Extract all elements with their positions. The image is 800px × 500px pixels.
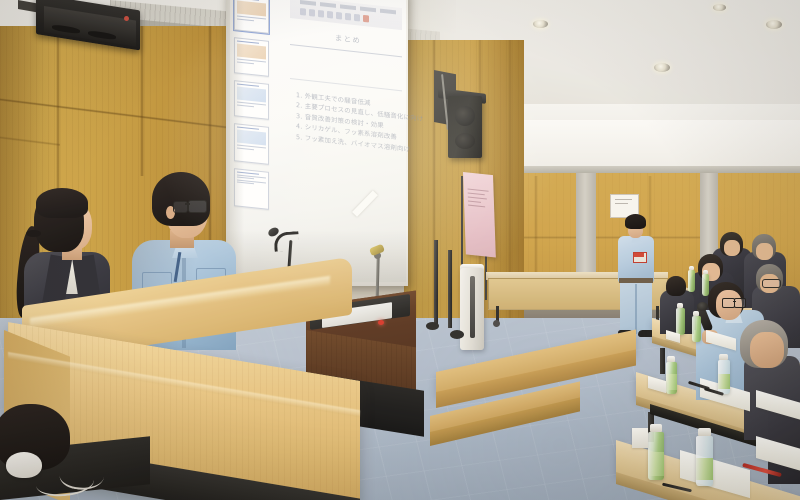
glasses-bridge: [185, 203, 190, 205]
ribbon-icon[interactable]: [336, 12, 342, 20]
ribbon-icon[interactable]: [309, 9, 315, 17]
ribbon-icon[interactable]: [345, 13, 351, 21]
bottle-label: [648, 452, 664, 476]
audience-glasses-icon: [762, 279, 781, 288]
staff-badge-stripe: [634, 253, 644, 257]
glasses-bridge: [733, 301, 736, 302]
bottle-cap: [693, 311, 699, 316]
equipment-pole: [434, 240, 438, 326]
equipment-base-caster: [450, 330, 464, 339]
ribbon-icon[interactable]: [327, 11, 333, 19]
downlight-icon: [766, 20, 782, 29]
bottle-cap: [677, 303, 683, 308]
ribbon-icon[interactable]: [318, 10, 324, 18]
microphone-head-icon: [697, 302, 708, 311]
conference-room-scene: まとめ 1. 外観工夫での騒音低減 2. 主要プロセスの見直し、低騒音化に向け …: [0, 0, 800, 500]
presenter-man-hair: [152, 172, 210, 226]
ribbon-tab[interactable]: [360, 7, 376, 13]
tea-bottle: [702, 274, 709, 296]
audience-head: [666, 276, 686, 296]
pink-poster-sign: [463, 172, 496, 258]
ribbon-tab[interactable]: [320, 2, 336, 8]
console-status-led-icon: [378, 320, 384, 325]
audience-face: [724, 240, 740, 256]
tea-bottle: [692, 316, 701, 342]
ribbon-icon[interactable]: [300, 8, 306, 16]
tea-bottle: [676, 308, 685, 335]
table-leg: [660, 348, 665, 374]
speaker-driver-icon: [455, 106, 475, 126]
ribbon-icon-record[interactable]: [363, 15, 369, 23]
ribbon-tab[interactable]: [340, 4, 356, 10]
presenter-woman-bangs: [36, 188, 88, 218]
staff-leg-seam: [635, 284, 637, 334]
back-wall-trim: [478, 166, 800, 173]
speaker-driver-icon: [455, 133, 475, 149]
downlight-icon: [713, 4, 726, 11]
staff-hair: [625, 214, 646, 229]
audience-speaker-glasses-icon: [734, 298, 746, 308]
audience-face: [756, 243, 773, 260]
nameplate: [632, 428, 648, 448]
bottle-cap: [650, 424, 662, 432]
ribbon-tab[interactable]: [300, 0, 316, 6]
equipment-pole: [448, 250, 452, 328]
panel-seam: [140, 26, 144, 176]
bottle-label: [718, 374, 730, 389]
downlight-icon: [654, 63, 670, 72]
presenter-man-glasses-icon: [188, 200, 207, 213]
bottle-label: [696, 458, 713, 480]
bottle-cap: [667, 356, 675, 362]
cabinet-caster: [493, 320, 500, 327]
bottle-cap: [719, 354, 728, 360]
bottle-cap: [698, 428, 711, 436]
back-wall-upper-white-inner: [486, 120, 800, 168]
ribbon-icon[interactable]: [354, 14, 360, 22]
air-purifier-vent: [470, 276, 475, 338]
tea-bottle: [688, 270, 695, 292]
bottle-cap: [689, 266, 694, 270]
equipment-base-caster: [426, 322, 439, 330]
ponytail-tie: [26, 230, 41, 237]
bottle-cap: [703, 270, 708, 274]
bottle-label: [666, 374, 677, 390]
monitor-status-led-icon: [124, 16, 129, 21]
audience-face: [750, 332, 784, 368]
staff-belt: [619, 278, 653, 283]
downlight-icon: [533, 20, 548, 28]
ribbon-tab[interactable]: [380, 9, 396, 15]
